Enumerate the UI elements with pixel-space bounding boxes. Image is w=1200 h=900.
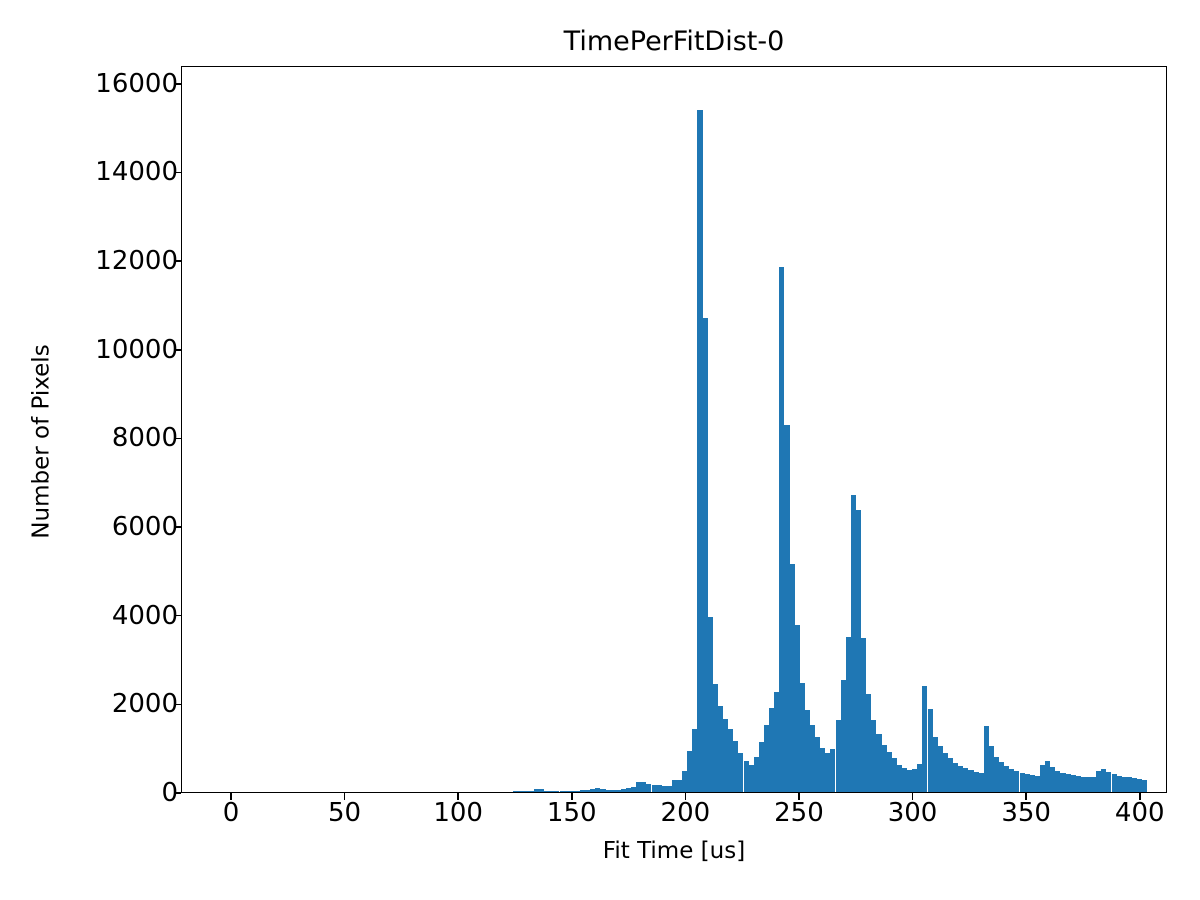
x-tick-label: 250: [774, 800, 824, 826]
plot-area: [181, 66, 1167, 793]
histogram-bars: [182, 67, 1166, 792]
histogram-bar: [1142, 780, 1147, 792]
x-tick-label: 400: [1115, 800, 1165, 826]
y-tick-label: 4000: [112, 603, 178, 629]
y-tick-label: 14000: [95, 159, 178, 185]
x-tick-label: 300: [888, 800, 938, 826]
x-tick-label: 50: [328, 800, 361, 826]
y-tick-label: 6000: [112, 514, 178, 540]
y-tick-label: 2000: [112, 691, 178, 717]
y-axis-label: Number of Pixels: [31, 292, 54, 592]
y-tick-label: 16000: [95, 71, 178, 97]
y-tick-label: 12000: [95, 248, 178, 274]
y-tick-label: 0: [161, 780, 178, 806]
x-tick-label: 350: [1001, 800, 1051, 826]
x-axis-label: Fit Time [us]: [181, 840, 1167, 863]
x-tick-label: 150: [547, 800, 597, 826]
matplotlib-figure: TimePerFitDist-0 02000400060008000100001…: [0, 0, 1200, 900]
x-tick-label: 0: [223, 800, 240, 826]
y-tick-label: 8000: [112, 425, 178, 451]
chart-title: TimePerFitDist-0: [181, 28, 1167, 55]
x-tick-label: 100: [433, 800, 483, 826]
y-tick-label: 10000: [95, 337, 178, 363]
x-tick-label: 200: [661, 800, 711, 826]
